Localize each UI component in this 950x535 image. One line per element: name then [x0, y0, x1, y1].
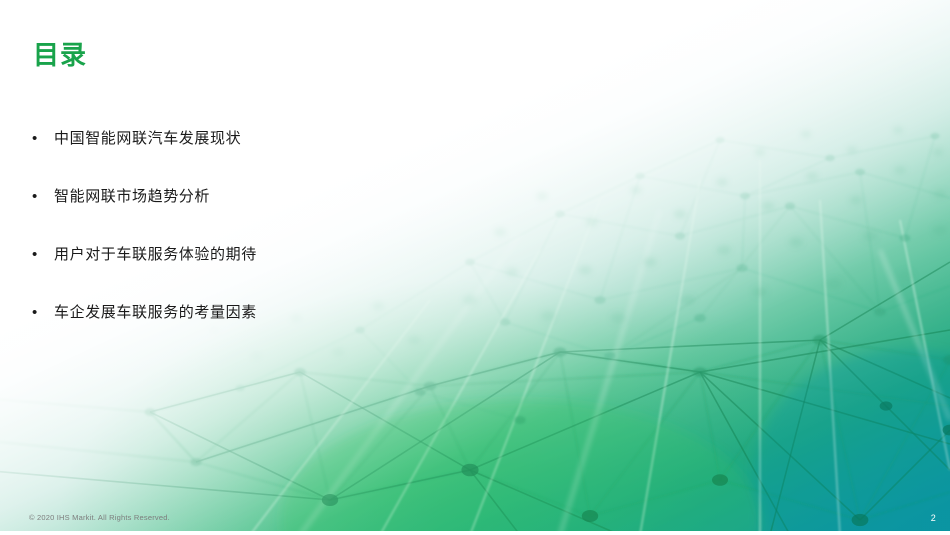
page-title: 目录 [33, 40, 87, 71]
table-of-contents-list: • 中国智能网联汽车发展现状 • 智能网联市场趋势分析 • 用户对于车联服务体验… [28, 128, 548, 360]
toc-item-label: 智能网联市场趋势分析 [54, 186, 210, 208]
toc-item-label: 中国智能网联汽车发展现状 [54, 128, 241, 150]
bullet-icon: • [28, 128, 54, 150]
toc-item-label: 车企发展车联服务的考量因素 [54, 302, 257, 324]
toc-item-3[interactable]: • 用户对于车联服务体验的期待 [28, 244, 548, 302]
bullet-icon: • [28, 244, 54, 266]
page-number: 2 [931, 513, 936, 523]
slide-content: 目录 • 中国智能网联汽车发展现状 • 智能网联市场趋势分析 • 用户对于车联服… [0, 0, 950, 535]
toc-item-2[interactable]: • 智能网联市场趋势分析 [28, 186, 548, 244]
bullet-icon: • [28, 302, 54, 324]
copyright-notice: © 2020 IHS Markit. All Rights Reserved. [29, 513, 170, 522]
bullet-icon: • [28, 186, 54, 208]
slide-canvas: 目录 • 中国智能网联汽车发展现状 • 智能网联市场趋势分析 • 用户对于车联服… [0, 0, 950, 535]
toc-item-label: 用户对于车联服务体验的期待 [54, 244, 257, 266]
toc-item-1[interactable]: • 中国智能网联汽车发展现状 [28, 128, 548, 186]
toc-item-4[interactable]: • 车企发展车联服务的考量因素 [28, 302, 548, 360]
